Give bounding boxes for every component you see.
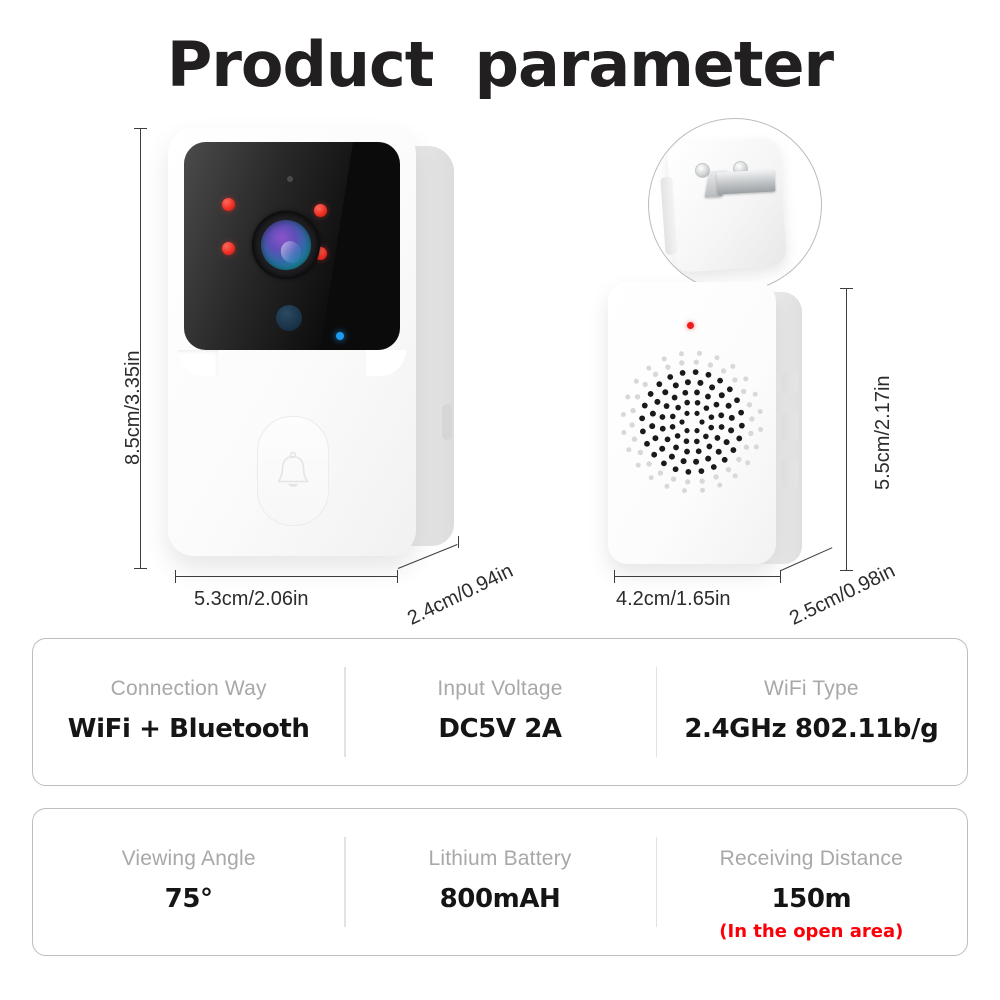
spec-column-receiving-distance: Receiving Distance 150m (In the open are… <box>656 809 967 955</box>
spec-value: 75° <box>165 884 213 914</box>
spec-column-viewing-angle: Viewing Angle 75° <box>33 809 344 955</box>
doorbell-height-label: 8.5cm/3.35in <box>122 350 145 465</box>
chime-pair-button[interactable] <box>782 458 798 488</box>
chime-device <box>608 282 838 572</box>
spec-value: DC5V 2A <box>438 714 561 744</box>
doorbell-width-label: 5.3cm/2.06in <box>194 588 309 611</box>
spec-label: Connection Way <box>111 677 267 701</box>
chime-height-line <box>846 288 847 570</box>
ir-led-icon <box>314 204 327 217</box>
chime-volume-button[interactable] <box>782 370 798 396</box>
doorbell-height-cap-bottom <box>134 568 147 569</box>
spec-column-connection-way: Connection Way WiFi + Bluetooth <box>33 639 344 785</box>
spec-column-input-voltage: Input Voltage DC5V 2A <box>344 639 655 785</box>
spec-value: 2.4GHz 802.11b/g <box>684 714 938 744</box>
doorbell-front-body <box>168 128 416 556</box>
lens-iris <box>261 220 311 270</box>
doorbell-width-cap-right <box>397 570 398 583</box>
pir-sensor-icon <box>276 305 302 331</box>
spec-value: 800mAH <box>440 884 561 914</box>
bell-icon <box>273 449 313 493</box>
camera-lens-icon <box>252 211 320 279</box>
spec-column-wifi-type: WiFi Type 2.4GHz 802.11b/g <box>656 639 967 785</box>
spec-label: Receiving Distance <box>720 847 903 871</box>
chime-melody-button[interactable] <box>782 412 798 442</box>
doorbell-side-notch <box>442 404 452 440</box>
chime-height-cap-top <box>840 288 853 289</box>
chime-width-cap-left <box>614 570 615 583</box>
plug-prong-icon <box>716 169 775 194</box>
page-title: Product parameter <box>0 28 1000 101</box>
speaker-grille-icon <box>616 342 768 502</box>
microphone-hole-icon <box>287 176 293 182</box>
spec-card-1: Connection Way WiFi + Bluetooth Input Vo… <box>32 638 968 786</box>
doorbell-depth-label: 2.4cm/0.94in <box>404 560 517 631</box>
ir-led-icon <box>222 242 235 255</box>
chime-width-cap-right <box>780 570 781 583</box>
chime-height-label: 5.5cm/2.17in <box>872 375 895 490</box>
doorbell-width-line <box>175 576 397 577</box>
spec-label: WiFi Type <box>764 677 859 701</box>
spec-label: Lithium Battery <box>428 847 571 871</box>
doorbell-camera-panel <box>184 142 400 350</box>
ir-led-icon <box>222 198 235 211</box>
doorbell-height-cap-top <box>134 128 147 129</box>
doorbell-ring-button[interactable] <box>257 416 329 526</box>
spec-value: 150m <box>771 884 851 914</box>
spec-label: Input Voltage <box>437 677 562 701</box>
doorbell-device <box>168 128 458 568</box>
spec-column-lithium-battery: Lithium Battery 800mAH <box>344 809 655 955</box>
chime-height-cap-bottom <box>840 570 853 571</box>
doorbell-height-line <box>140 128 141 568</box>
doorbell-depth-cap <box>458 536 459 548</box>
status-indicator-led <box>336 332 344 340</box>
plug-closeup-inset <box>648 118 822 292</box>
chime-status-led <box>687 322 694 329</box>
chime-width-label: 4.2cm/1.65in <box>616 588 731 611</box>
spec-note: (In the open area) <box>719 921 903 942</box>
spec-value: WiFi + Bluetooth <box>68 714 310 744</box>
plug-back-body <box>667 137 788 273</box>
doorbell-width-cap-left <box>175 570 176 583</box>
spec-card-2: Viewing Angle 75° Lithium Battery 800mAH… <box>32 808 968 956</box>
lens-glint <box>277 238 304 266</box>
chime-width-line <box>614 576 780 577</box>
doorbell-lip-right <box>366 350 406 376</box>
spec-label: Viewing Angle <box>122 847 256 871</box>
doorbell-lip-left <box>178 350 218 376</box>
product-illustration-stage: 8.5cm/3.35in 5.3cm/2.06in 2.4cm/0.94in <box>0 110 1000 630</box>
chime-front-body <box>608 282 776 564</box>
